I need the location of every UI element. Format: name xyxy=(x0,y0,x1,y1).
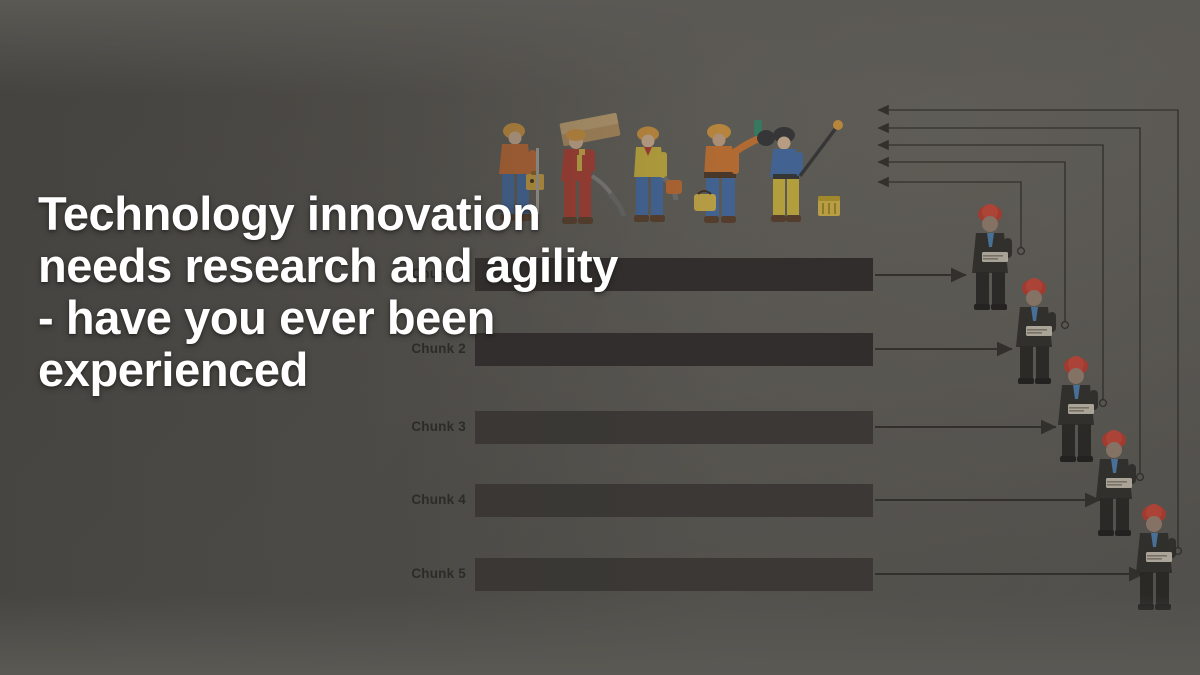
slide-canvas: Chunk 1 Chunk 2 Chunk 3 Chunk 4 Chunk 5 xyxy=(0,0,1200,675)
chunk-label-4: Chunk 4 xyxy=(356,492,466,507)
headline-line-1: Technology innovation xyxy=(38,188,838,240)
headline-text: Technology innovation needs research and… xyxy=(38,188,838,396)
headline-line-4: experienced xyxy=(38,344,838,396)
bottom-fade xyxy=(0,595,1200,675)
headline-line-2: needs research and agility xyxy=(38,240,838,292)
top-fade xyxy=(0,0,1200,95)
chunk-label-3: Chunk 3 xyxy=(356,419,466,434)
chunk-label-5: Chunk 5 xyxy=(356,566,466,581)
headline-line-3: - have you ever been xyxy=(38,292,838,344)
